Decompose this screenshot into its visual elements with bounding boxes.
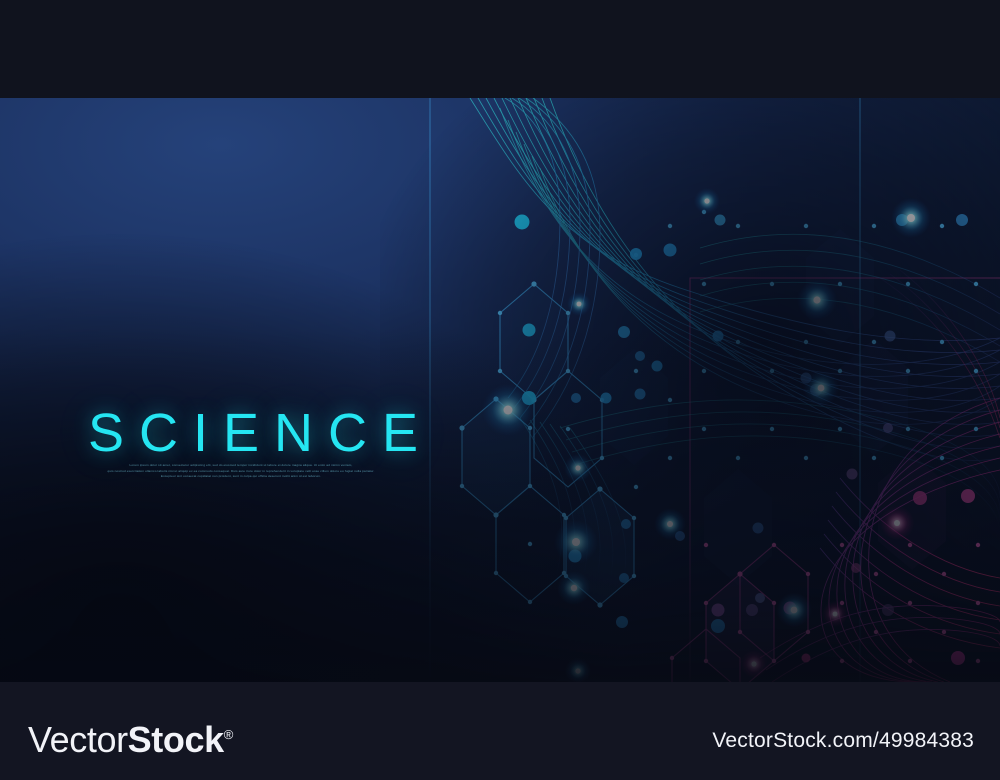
vectorstock-logo: VectorStock® (28, 722, 233, 758)
logo-word-stock: Stock (128, 719, 224, 760)
letterbox-bar-top (0, 0, 1000, 98)
body-copy-line-3: Excepteur sint occaecat cupidatat non pr… (105, 474, 377, 480)
vectorstock-url: VectorStock.com/49984383 (712, 729, 974, 753)
logo-word-vector: Vector (28, 719, 128, 760)
body-copy-line-1: Lorem ipsum dolor sit amet, consectetur … (105, 463, 377, 469)
body-copy: Lorem ipsum dolor sit amet, consectetur … (105, 463, 377, 480)
registered-trademark-icon: ® (224, 727, 233, 742)
screenshot-root: SCIENCE Lorem ipsum dolor sit amet, cons… (0, 0, 1000, 780)
hexagon-network-graphic (0, 98, 1000, 682)
science-artwork: SCIENCE Lorem ipsum dolor sit amet, cons… (0, 98, 1000, 682)
page-title: SCIENCE (88, 406, 388, 460)
